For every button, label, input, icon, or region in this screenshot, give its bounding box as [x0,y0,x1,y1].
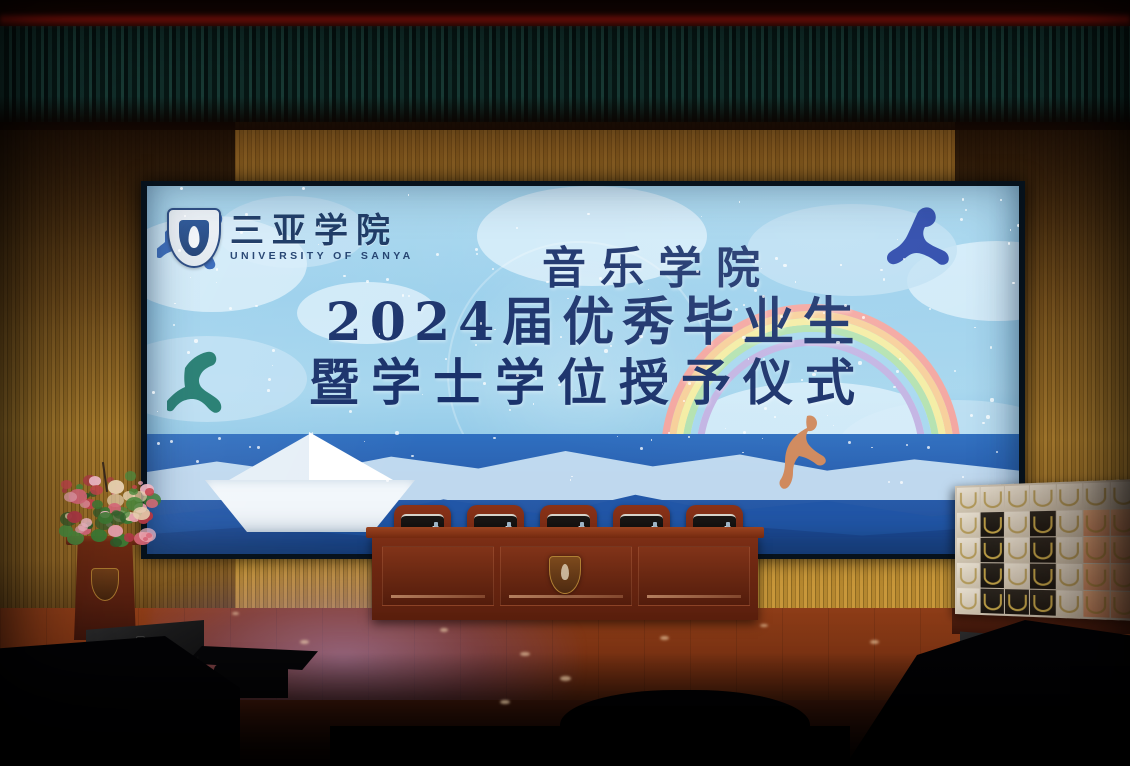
snow-dot [962,476,964,478]
hood-tile [1056,564,1082,590]
snow-dot [812,373,815,376]
title-line-3: 暨学士学位授予仪式 [147,353,1019,412]
flower-petal [146,499,158,508]
hood-tile [1083,591,1109,618]
title-line-2: 2024届优秀毕业生 [147,293,1019,353]
snow-dot [216,282,217,283]
hood-tile [1005,485,1029,511]
hood-tile [1030,484,1055,510]
snow-dot [354,330,355,331]
hood-tile [1111,537,1130,564]
hood-tile [957,538,980,562]
flower-petal [125,471,136,480]
floral-arrangement [58,470,154,546]
snow-dot [970,414,973,417]
snow-dot [196,460,199,463]
hood-tile [1056,590,1082,616]
flower-petal [108,525,123,537]
snow-dot [587,213,589,215]
flower-petal [143,537,148,541]
flower-petal [59,525,73,536]
snow-dot [929,308,931,310]
snow-dot [366,280,368,282]
hood-tile [1111,509,1130,536]
snow-dot [494,329,495,330]
snow-dot [157,442,160,445]
floor-light-reflection [440,628,448,632]
snow-dot [774,416,776,418]
snow-dot [683,400,685,402]
snow-dot [651,439,652,440]
hood-tile [957,563,980,588]
snow-dot [688,436,689,437]
hood-tile [981,563,1004,588]
snow-dot [571,476,572,477]
floor-light-reflection [500,700,510,704]
snow-dot [660,301,661,302]
snow-dot [343,275,346,278]
graduation-hood-display-board [955,479,1130,621]
snow-dot [349,410,352,413]
snow-dot [187,351,190,354]
podium-crest-emblem-icon [91,568,119,601]
snow-dot [893,386,895,388]
floor-light-reflection [520,652,530,656]
snow-dot [990,346,993,349]
hood-tile [1005,537,1029,562]
snow-dot [445,358,447,360]
snow-dot [535,378,537,380]
snow-dot [240,231,243,234]
snow-dot [218,437,221,440]
hood-tile [1030,537,1055,562]
auditorium-stage-photo: 三亚学院 UNIVERSITY OF SANYA 音乐学院 2024届优秀毕业生… [0,0,1130,766]
snow-dot [475,248,478,251]
snow-dot [840,264,841,265]
floor-light-reflection [300,640,309,644]
snow-dot [395,431,399,435]
hood-tile [957,487,980,512]
snow-dot [743,304,745,306]
floor-light-reflection [870,640,879,644]
ceremony-title: 音乐学院 2024届优秀毕业生 暨学士学位授予仪式 [147,244,1019,412]
snow-dot [558,384,561,387]
snow-dot [480,322,482,324]
snow-dot [1017,224,1019,227]
hood-tile [1056,510,1082,536]
snow-dot [751,256,753,258]
flower-petal [129,488,138,495]
snow-dot [194,339,197,342]
hood-tile [1005,589,1029,615]
title-line-1: 音乐学院 [147,244,1019,293]
hood-tile [981,538,1004,563]
hood-tile [1111,592,1130,619]
led-screen: 三亚学院 UNIVERSITY OF SANYA 音乐学院 2024届优秀毕业生… [147,186,1019,554]
snow-dot [402,294,405,297]
hood-tile [981,589,1004,614]
snow-dot [823,312,825,314]
snow-dot [775,257,777,259]
flower-petal [145,488,154,496]
snow-dot [688,382,691,385]
snow-dot [986,415,990,419]
snow-dot [783,264,787,268]
hood-tile [1030,590,1055,616]
speaking-podium [74,542,136,640]
hood-tile [1030,511,1055,537]
snow-dot [880,269,882,271]
hood-tile [1083,482,1109,509]
flower-petal [64,492,77,502]
snow-dot [249,446,251,448]
snow-dot [493,437,496,440]
hood-tile [1056,537,1082,563]
snow-dot [180,187,183,190]
hood-tile [1111,564,1130,591]
floor-light-reflection [232,612,239,615]
snow-dot [272,349,275,352]
snow-dot [1010,229,1011,230]
snow-dot [599,277,602,280]
snow-dot [1000,199,1002,201]
climber-silhouette-orange-icon [765,408,835,504]
hood-tile [957,588,980,613]
snow-dot [801,379,802,380]
snow-dot [267,389,270,392]
snow-dot [701,216,702,217]
snow-dot [900,481,903,484]
snow-dot [257,446,259,448]
hood-tile [957,512,980,537]
snow-dot [302,187,305,190]
snow-dot [763,358,765,360]
flower-petal [133,507,150,521]
red-light-strip [0,13,1130,26]
snow-dot [476,253,478,255]
hood-tile [1083,564,1109,590]
snow-dot [560,336,562,338]
hood-tile [981,512,1004,537]
hood-tile [1005,511,1029,536]
flower-petal [91,529,107,542]
led-screen-frame: 三亚学院 UNIVERSITY OF SANYA 音乐学院 2024届优秀毕业生… [141,181,1025,559]
snow-dot [780,315,783,318]
hood-tile [1111,481,1130,508]
floor-light-reflection [660,636,669,640]
snow-dot [318,225,319,226]
snow-dot [739,201,740,202]
flower-petal [108,480,124,493]
snow-dot [862,316,865,319]
hood-tile [981,486,1004,511]
flower-petal [124,533,134,541]
snow-dot [639,335,642,338]
hood-tile [1083,510,1109,536]
snow-dot [386,479,389,482]
snow-dot [386,278,389,281]
snow-dot [408,194,410,196]
hood-tile [1083,537,1109,563]
snow-dot [268,378,271,381]
flower-petal [67,511,82,523]
flower-petal [61,480,72,489]
snow-dot [858,361,861,364]
audience-silhouette-center-body [330,726,850,766]
snow-dot [190,277,191,278]
snow-dot [742,336,745,339]
snow-dot [604,349,608,353]
hood-tile [1056,483,1082,509]
paper-boat-graphic [205,436,415,532]
hood-tile [1030,564,1055,590]
snow-dot [570,479,571,480]
valance-bottom-fade [0,96,1130,130]
flower-petal [110,538,122,548]
flower-petal [90,485,103,495]
snow-dot [848,441,851,444]
snow-dot [643,306,645,308]
floor-light-reflection [560,676,571,681]
snow-dot [990,398,993,401]
floor-light-reflection [760,624,768,627]
head-table [372,534,758,620]
snow-dot [152,391,155,394]
snow-dot [640,447,643,450]
snow-dot [896,370,899,373]
snow-dot [662,383,663,384]
snow-dot [725,428,726,429]
hood-tile [1005,563,1029,588]
